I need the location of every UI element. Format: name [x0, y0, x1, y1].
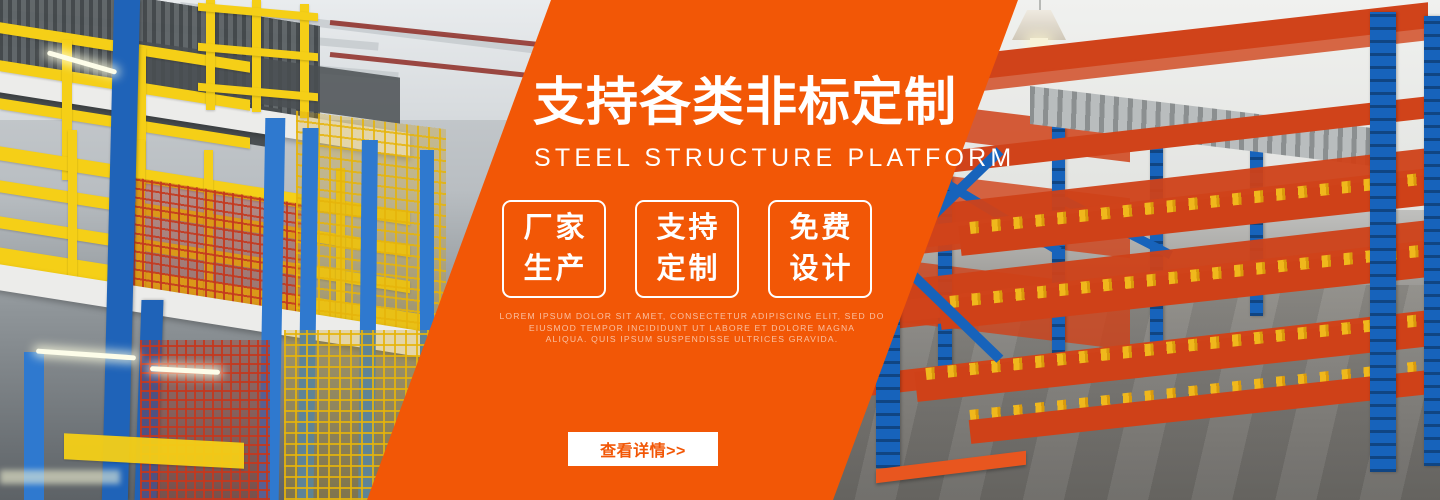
page-title: 支持各类非标定制 — [533, 72, 963, 134]
promo-banner: 支持各类非标定制 STEEL STRUCTURE PLATFORM 厂家 生产 … — [0, 0, 1440, 500]
view-details-button[interactable]: 查看详情>> — [568, 432, 718, 466]
badge-line-1: 支持 — [653, 208, 720, 249]
badge-manufacturer: 厂家 生产 — [502, 200, 606, 298]
description-line-2: EIUSMOD TEMPOR INCIDIDUNT UT LABORE ET D… — [447, 323, 937, 335]
badge-line-2: 生产 — [520, 249, 587, 290]
badge-line-2: 设计 — [786, 249, 853, 290]
badge-custom-support: 支持 定制 — [635, 200, 739, 298]
description-text: LOREM IPSUM DOLOR SIT AMET, CONSECTETUR … — [447, 311, 937, 346]
description-line-1: LOREM IPSUM DOLOR SIT AMET, CONSECTETUR … — [447, 311, 937, 323]
badge-line-1: 厂家 — [520, 208, 587, 249]
badge-free-design: 免费 设计 — [768, 200, 872, 298]
badge-line-1: 免费 — [786, 208, 853, 249]
description-line-3: ALIQUA. QUIS IPSUM SUSPENDISSE ULTRICES … — [447, 334, 937, 346]
subtitle: STEEL STRUCTURE PLATFORM — [534, 144, 1015, 173]
panel-content: 支持各类非标定制 STEEL STRUCTURE PLATFORM 厂家 生产 … — [0, 0, 1440, 500]
feature-badges: 厂家 生产 支持 定制 免费 设计 — [502, 200, 872, 298]
badge-line-2: 定制 — [653, 249, 720, 290]
